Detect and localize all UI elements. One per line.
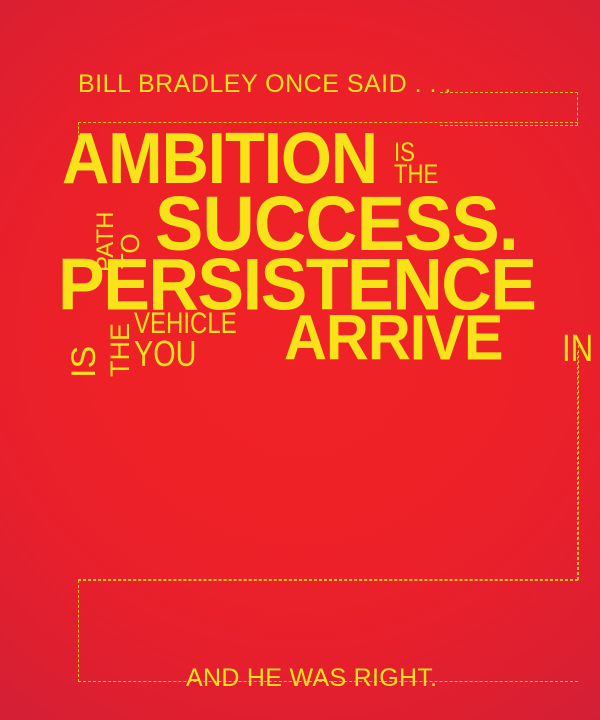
word-you: YOU bbox=[134, 339, 237, 369]
header-attribution-text: BILL BRADLEY ONCE SAID . . . bbox=[78, 70, 452, 99]
word-ambition: AMBITION bbox=[62, 131, 377, 187]
poster-canvas: BILL BRADLEY ONCE SAID . . . AMBITION IS… bbox=[0, 0, 600, 720]
dashed-rule-right-upper bbox=[578, 340, 579, 580]
quote-line-1: AMBITION IS THE bbox=[62, 134, 448, 187]
word-in: IN bbox=[562, 334, 593, 365]
dashed-rule-lower-top bbox=[78, 580, 578, 581]
word-stack-is-the: IS THE bbox=[394, 141, 448, 185]
dashed-frame-main bbox=[78, 352, 578, 580]
word-is-rotated: IS bbox=[70, 316, 96, 378]
dashed-frame-top-right bbox=[440, 92, 578, 126]
quote-typography-block: AMBITION IS THE PATH TO SUCCESS. PERSIST… bbox=[0, 134, 600, 354]
word-arrive: ARRIVE bbox=[284, 314, 502, 364]
word-the-rotated: THE bbox=[109, 321, 131, 377]
word-stack-vehicle-you: VEHICLE YOU bbox=[134, 312, 262, 368]
footer-closing-text: AND HE WAS RIGHT. bbox=[186, 664, 437, 693]
